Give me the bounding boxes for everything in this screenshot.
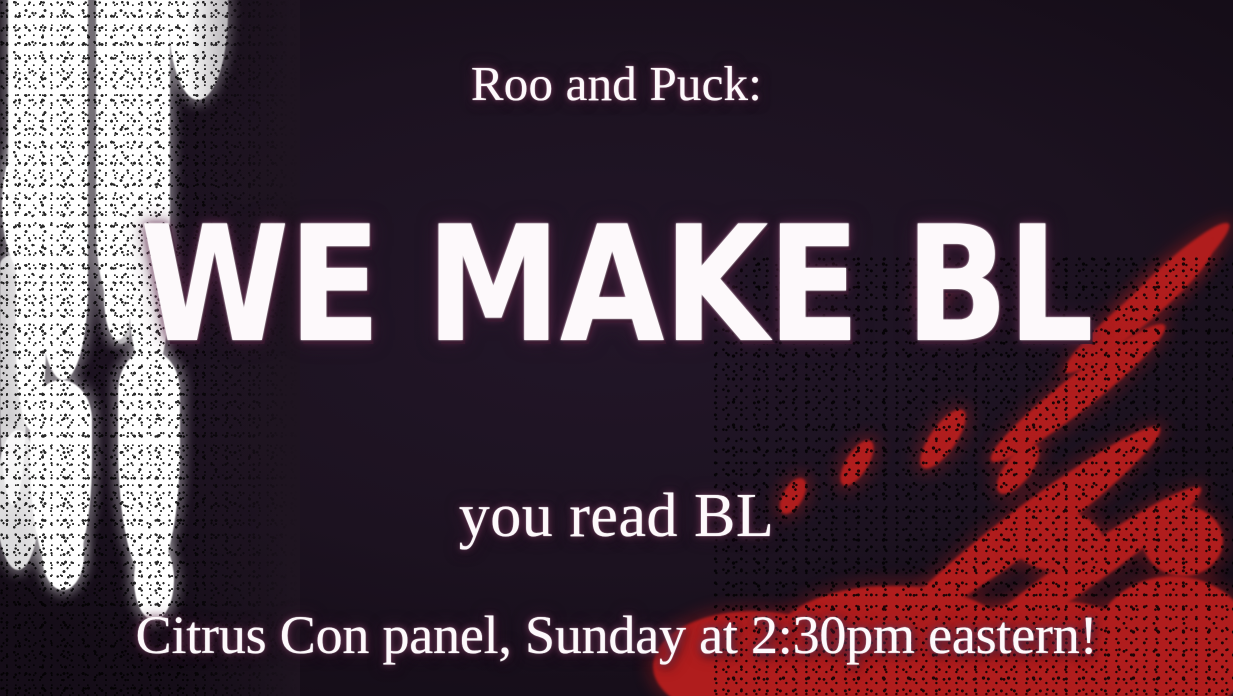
event-details-text: Citrus Con panel, Sunday at 2:30pm easte… — [0, 604, 1233, 666]
kicker-text: Roo and Puck: — [0, 55, 1233, 112]
subheadline-text: you read BL — [0, 481, 1233, 552]
page-title: WE MAKE BL — [96, 205, 1138, 365]
poster-canvas: Roo and Puck: WE MAKE BL you read BL Cit… — [0, 0, 1233, 696]
